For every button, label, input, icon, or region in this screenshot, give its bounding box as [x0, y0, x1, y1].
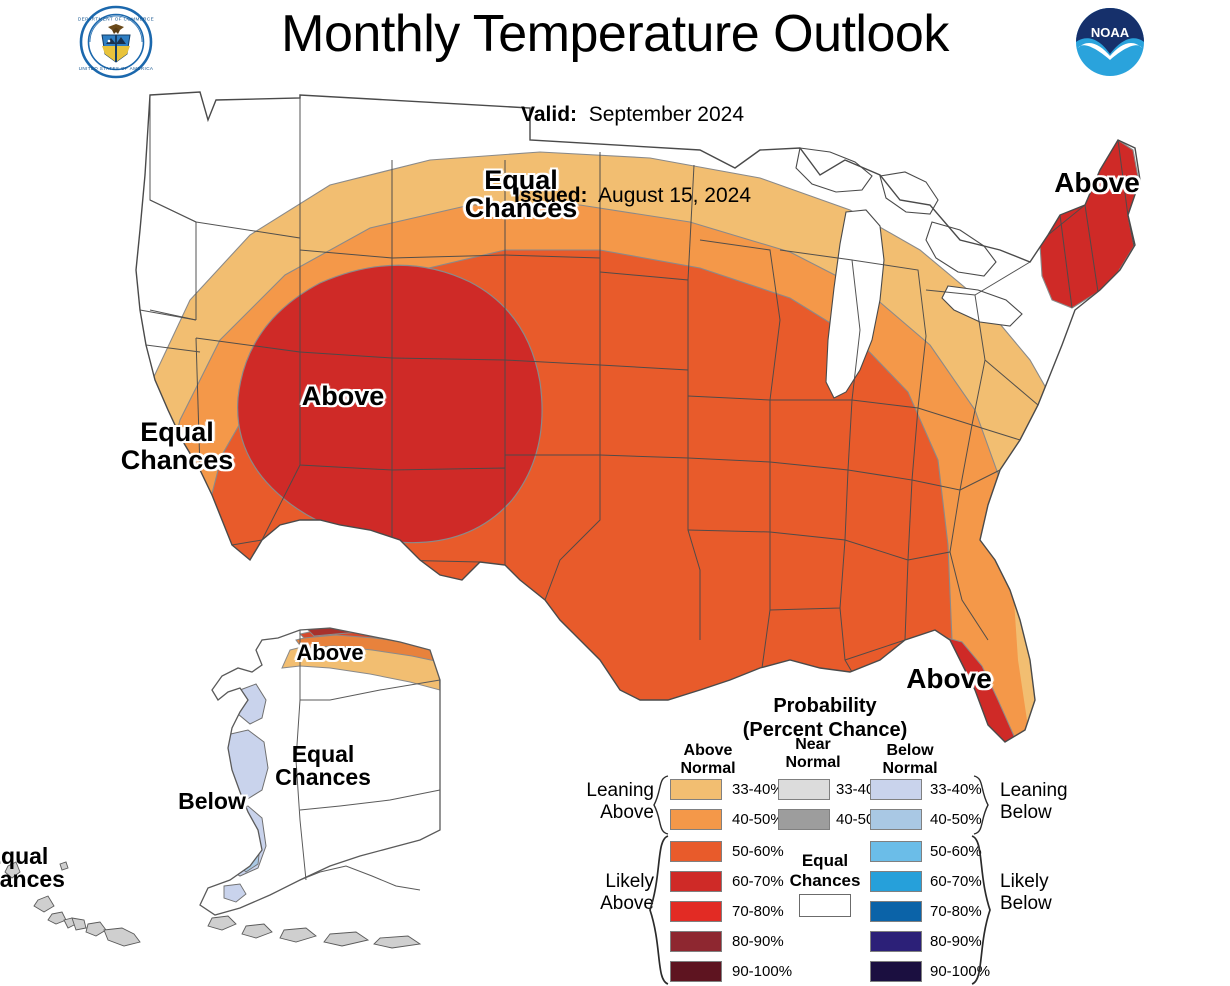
legend-title-line1: Probability [560, 694, 1090, 718]
brace-likely-above [646, 834, 670, 986]
validity-block: Valid: September 2024 Issued: August 15,… [0, 74, 1230, 236]
outlook-page: EqualChances EqualChances Above Above Ab… [0, 0, 1230, 950]
legend-colhead-below: Below Normal [860, 742, 960, 778]
swatch-above-33-40 [670, 779, 722, 800]
page-title: Monthly Temperature Outlook [0, 4, 1230, 64]
noaa-logo: NOAA [1068, 4, 1152, 80]
swatch-below-70-80 [870, 901, 922, 922]
legend-equal-chances-text: EqualChances [770, 851, 880, 891]
swatch-above-80-90 [670, 931, 722, 952]
swatch-below-40-50 [870, 809, 922, 830]
alaska-region [180, 600, 470, 948]
department-of-commerce-seal: DEPARTMENT OF COMMERCE UNITED STATES OF … [78, 4, 154, 80]
valid-label: Valid: [521, 103, 577, 126]
swatch-above-90-100 [670, 961, 722, 982]
bracket-label-leaning-above: LeaningAbove [554, 780, 654, 824]
legend-colhead-near: Near Normal [763, 736, 863, 772]
issued-label: Issued: [514, 184, 588, 207]
swatch-near-33-40 [778, 779, 830, 800]
swatch-above-50-60 [670, 841, 722, 862]
ak-zone-below-islands [186, 776, 208, 796]
valid-value: September 2024 [589, 103, 744, 126]
brace-leaning-above [648, 774, 670, 836]
swlabel-above-80-90: 80-90% [732, 933, 784, 950]
swatch-below-33-40 [870, 779, 922, 800]
issued-row: Issued: August 15, 2024 [0, 155, 1230, 236]
legend-equal-chances-box [799, 894, 851, 917]
bracket-label-likely-above: LikelyAbove [554, 871, 654, 915]
swatch-above-70-80 [670, 901, 722, 922]
legend-colhead-above: Above Normal [658, 742, 758, 778]
colhead-near-l1: Near [763, 736, 863, 754]
svg-text:DEPARTMENT OF COMMERCE: DEPARTMENT OF COMMERCE [78, 17, 154, 22]
swlabel-above-70-80: 70-80% [732, 903, 784, 920]
swlabel-above-40-50: 40-50% [732, 811, 784, 828]
valid-row: Valid: September 2024 [0, 74, 1230, 155]
swatch-below-50-60 [870, 841, 922, 862]
colhead-below-l1: Below [860, 742, 960, 760]
issued-value: August 15, 2024 [598, 184, 751, 207]
colhead-above-l2: Normal [658, 760, 758, 778]
swlabel-above-90-100: 90-100% [732, 963, 792, 980]
colhead-near-l2: Normal [763, 754, 863, 772]
swatch-near-40-50 [778, 809, 830, 830]
ak-zone-below-40-50 [230, 832, 260, 872]
colhead-above-l1: Above [658, 742, 758, 760]
bracket-label-leaning-below: LeaningBelow [1000, 780, 1100, 824]
bracket-label-likely-below: LikelyBelow [1000, 871, 1100, 915]
brace-likely-below [970, 834, 994, 986]
swatch-above-40-50 [670, 809, 722, 830]
swlabel-above-33-40: 33-40% [732, 781, 784, 798]
ak-zone-below-33-40b [212, 730, 268, 800]
noaa-logo-text: NOAA [1091, 25, 1130, 40]
aleutian-islands [208, 916, 420, 948]
swatch-below-90-100 [870, 961, 922, 982]
svg-text:UNITED STATES OF AMERICA: UNITED STATES OF AMERICA [79, 66, 154, 71]
brace-leaning-below [972, 774, 994, 836]
hawaii-region [5, 862, 140, 946]
legend-title: Probability (Percent Chance) [560, 694, 1090, 742]
swatch-above-60-70 [670, 871, 722, 892]
swatch-below-60-70 [870, 871, 922, 892]
swatch-below-80-90 [870, 931, 922, 952]
colhead-below-l2: Normal [860, 760, 960, 778]
ak-zone-below-33-40c [216, 806, 266, 876]
probability-legend: Probability (Percent Chance) Above Norma… [560, 694, 1090, 950]
